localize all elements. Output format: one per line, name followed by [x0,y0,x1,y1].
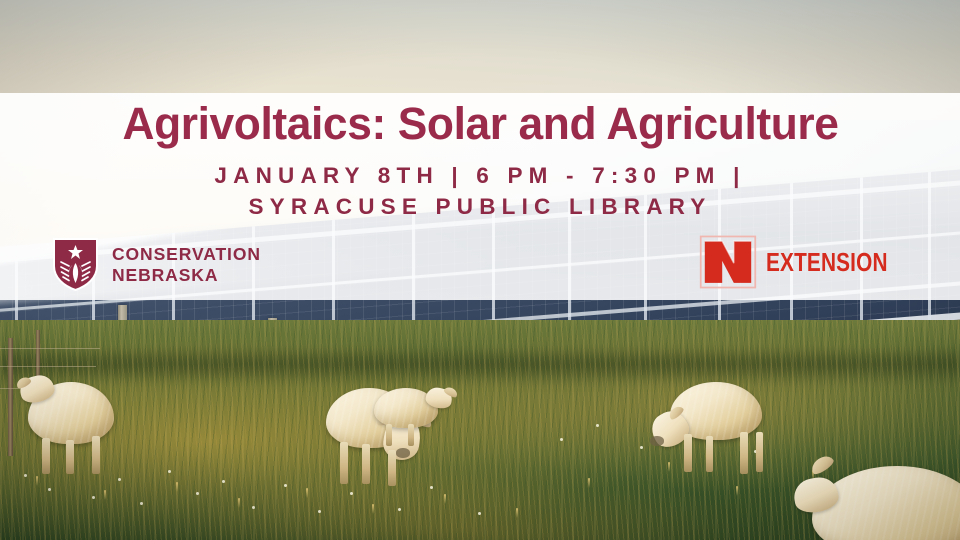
nebraska-block-n-icon [699,233,757,291]
fence-wire [0,366,96,367]
conservation-nebraska-wordmark: CONSERVATION NEBRASKA [112,244,261,285]
logo-row: CONSERVATION NEBRASKA EXTENSION [0,237,960,299]
sheep [374,382,464,452]
conservation-nebraska-logo: CONSERVATION NEBRASKA [52,237,261,292]
nebraska-extension-logo: EXTENSION [699,233,918,291]
event-promo-graphic: Agrivoltaics: Solar and Agriculture JANU… [0,0,960,540]
sheep [14,368,134,478]
page-title: Agrivoltaics: Solar and Agriculture [122,100,838,149]
fence-post [8,338,13,456]
text-overlay-band: Agrivoltaics: Solar and Agriculture JANU… [0,93,960,300]
shield-with-star-and-wheat-icon [52,237,99,292]
event-details: JANUARY 8TH | 6 PM - 7:30 PM | SYRACUSE … [214,160,745,222]
event-venue: SYRACUSE PUBLIC LIBRARY [214,191,745,222]
sheep [788,452,960,540]
extension-wordmark: EXTENSION [766,247,888,278]
cn-line-1: CONSERVATION [112,244,261,265]
sheep [644,372,784,484]
event-date-time: JANUARY 8TH | 6 PM - 7:30 PM | [214,163,745,188]
fence-wire [0,348,100,349]
cn-line-2: NEBRASKA [112,265,261,286]
